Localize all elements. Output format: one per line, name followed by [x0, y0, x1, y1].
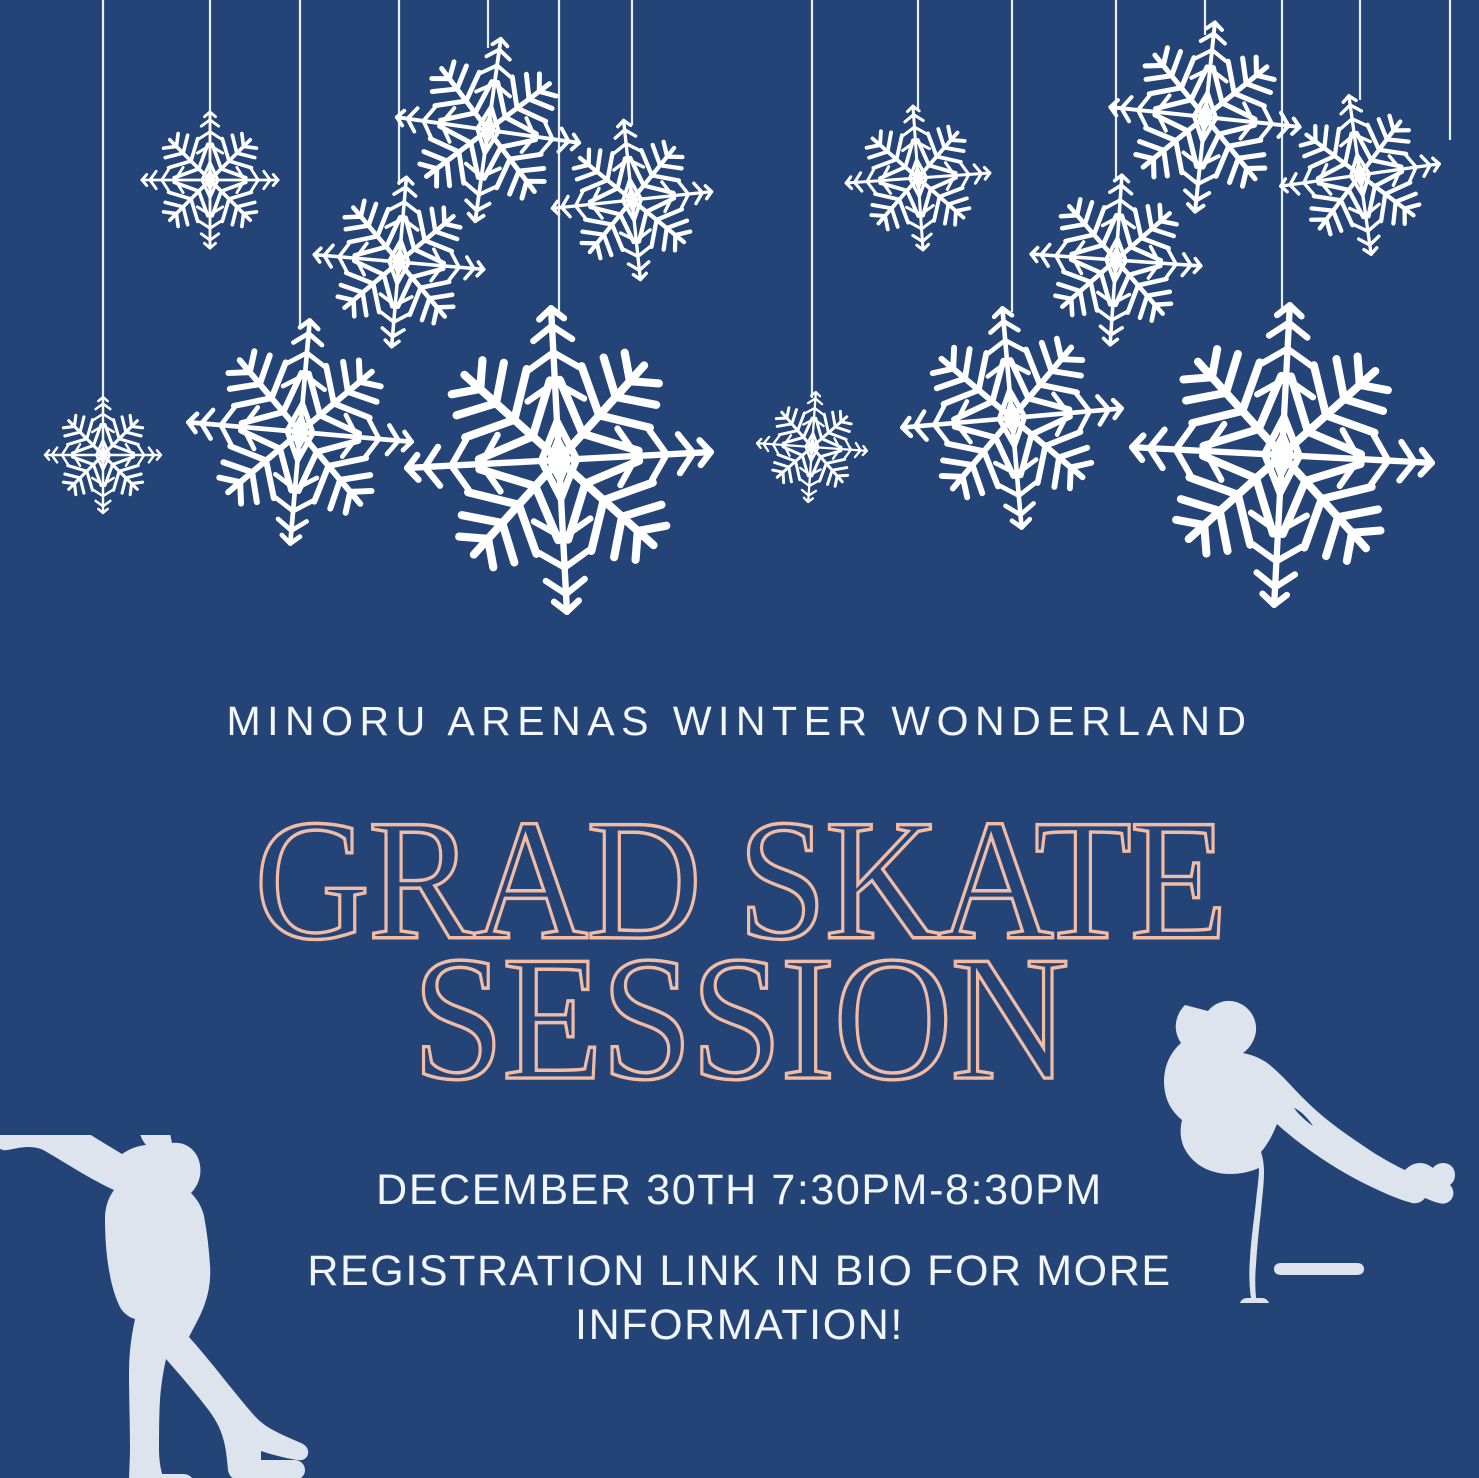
- poster-text-block: MINORU ARENAS WINTER WONDERLAND GRAD SKA…: [0, 0, 1479, 1478]
- event-date-time: DECEMBER 30TH 7:30PM-8:30PM: [0, 1166, 1479, 1215]
- poster-title-line-1: GRAD SKATE: [0, 806, 1479, 956]
- registration-note-line-2: INFORMATION!: [0, 1301, 1479, 1350]
- poster-title: GRAD SKATE SESSION: [0, 806, 1479, 1097]
- svg-text:SESSION: SESSION: [412, 942, 1067, 1097]
- poster-eyebrow: MINORU ARENAS WINTER WONDERLAND: [0, 698, 1479, 745]
- poster-title-line-2: SESSION: [0, 942, 1479, 1097]
- registration-note-line-1: REGISTRATION LINK IN BIO FOR MORE: [0, 1247, 1479, 1296]
- svg-text:GRAD SKATE: GRAD SKATE: [254, 806, 1225, 956]
- poster-canvas: MINORU ARENAS WINTER WONDERLAND GRAD SKA…: [0, 0, 1479, 1478]
